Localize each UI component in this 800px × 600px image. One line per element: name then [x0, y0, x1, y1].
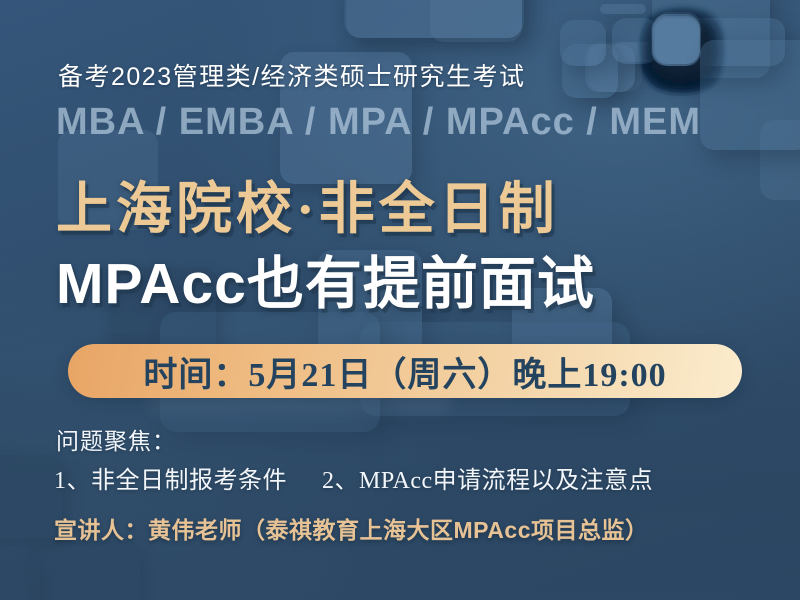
speaker-line: 宣讲人：黄伟老师（泰祺教育上海大区MPAcc项目总监） — [54, 511, 649, 545]
focus-item-2: 2、MPAcc申请流程以及注意点 — [322, 468, 653, 494]
time-banner-pill: 时间：5月21日（周六）晚上19:00 — [68, 344, 742, 398]
eyebrow-exam-line: 备考2023管理类/经济类硕士研究生考试 — [58, 57, 526, 93]
focus-section-label: 问题聚焦： — [56, 422, 176, 456]
seminar-poster: 备考2023管理类/经济类硕士研究生考试 MBA / EMBA / MPA / … — [0, 0, 800, 600]
poster-content: 备考2023管理类/经济类硕士研究生考试 MBA / EMBA / MPA / … — [0, 0, 800, 600]
focus-item-1: 1、非全日制报考条件 — [54, 468, 287, 494]
focus-items-row: 1、非全日制报考条件 2、MPAcc申请流程以及注意点 — [54, 460, 653, 495]
program-list-line: MBA / EMBA / MPA / MPAcc / MEM — [56, 101, 701, 144]
gold-headline: 上海院校·非全日制 — [56, 164, 559, 245]
time-banner-text: 时间：5月21日（周六）晚上19:00 — [143, 347, 666, 396]
main-headline: MPAcc也有提前面试 — [56, 238, 595, 320]
